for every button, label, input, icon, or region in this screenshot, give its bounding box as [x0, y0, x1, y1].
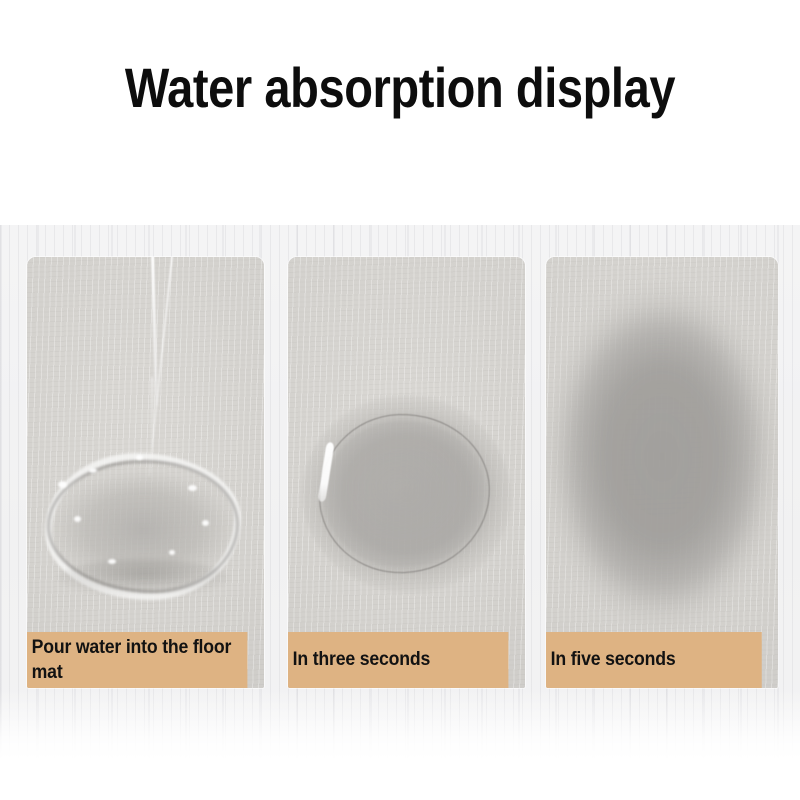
water-sparkle-icon	[89, 468, 97, 473]
panel-pour[interactable]: Pour water into the floor mat	[27, 257, 264, 688]
water-absorbed-area	[546, 274, 778, 653]
panel-caption-three-seconds: In three seconds	[288, 632, 508, 688]
water-sparkle-icon	[74, 516, 81, 522]
water-sparkle-icon	[58, 481, 67, 488]
water-absorption-display: Water absorption display Pour water into…	[0, 0, 800, 800]
page-title: Water absorption display	[64, 56, 736, 120]
water-stream-tail	[151, 377, 153, 447]
panel-caption-pour: Pour water into the floor mat	[27, 632, 247, 688]
panel-three-seconds[interactable]: In three seconds	[288, 257, 525, 688]
caption-line: In three seconds	[293, 647, 430, 673]
caption-line: Pour water into the floor	[32, 635, 232, 660]
water-sparkle-icon	[108, 559, 116, 564]
panel-five-seconds[interactable]: In five seconds	[546, 257, 778, 688]
caption-line: In five seconds	[551, 647, 676, 673]
panel-caption-five-seconds: In five seconds	[546, 632, 762, 688]
caption-line: mat	[32, 660, 232, 685]
